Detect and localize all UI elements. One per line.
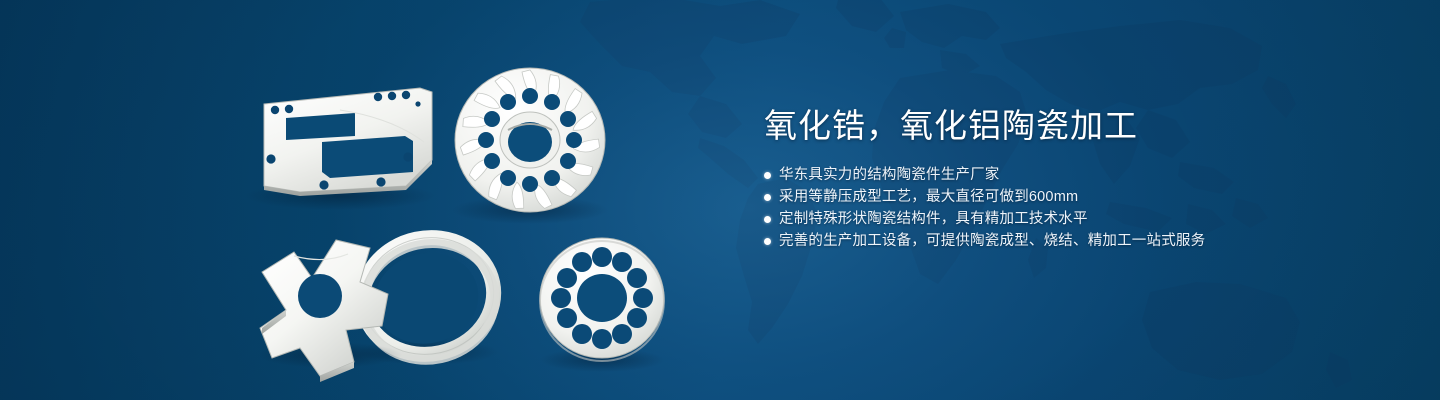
list-item: 定制特殊形状陶瓷结构件，具有精加工技术水平 bbox=[764, 208, 1364, 230]
product-ceramic-plate bbox=[245, 88, 435, 210]
page-title: 氧化锆，氧化铝陶瓷加工 bbox=[764, 104, 1364, 148]
product-image-group bbox=[0, 0, 720, 400]
feature-text: 定制特殊形状陶瓷结构件，具有精加工技术水平 bbox=[779, 208, 1088, 230]
bullet-dot-icon bbox=[764, 216, 771, 223]
list-item: 采用等静压成型工艺，最大直径可做到600mm bbox=[764, 186, 1364, 208]
product-ceramic-flange bbox=[540, 238, 664, 372]
bullet-dot-icon bbox=[764, 194, 771, 201]
feature-text: 采用等静压成型工艺，最大直径可做到600mm bbox=[779, 186, 1078, 208]
promo-banner: 氧化锆，氧化铝陶瓷加工 华东具实力的结构陶瓷件生产厂家 采用等静压成型工艺，最大… bbox=[0, 0, 1440, 400]
banner-copy: 氧化锆，氧化铝陶瓷加工 华东具实力的结构陶瓷件生产厂家 采用等静压成型工艺，最大… bbox=[764, 104, 1364, 252]
feature-text: 完善的生产加工设备，可提供陶瓷成型、烧结、精加工一站式服务 bbox=[779, 230, 1205, 252]
feature-text: 华东具实力的结构陶瓷件生产厂家 bbox=[779, 164, 1000, 186]
product-ceramic-impeller bbox=[452, 68, 608, 224]
feature-list: 华东具实力的结构陶瓷件生产厂家 采用等静压成型工艺，最大直径可做到600mm 定… bbox=[764, 164, 1364, 252]
bullet-dot-icon bbox=[764, 238, 771, 245]
bullet-dot-icon bbox=[764, 172, 771, 179]
list-item: 完善的生产加工设备，可提供陶瓷成型、烧结、精加工一站式服务 bbox=[764, 230, 1364, 252]
list-item: 华东具实力的结构陶瓷件生产厂家 bbox=[764, 164, 1364, 186]
